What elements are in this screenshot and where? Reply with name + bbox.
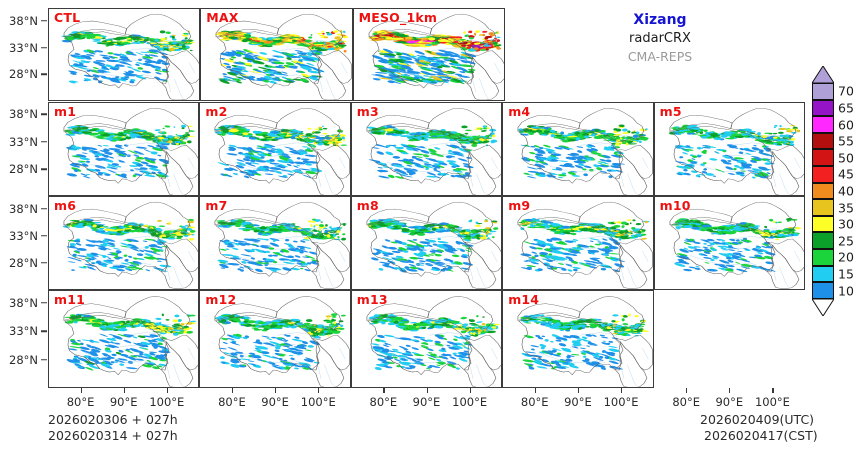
- ytick-mark: [41, 20, 47, 22]
- panel-label-ctl: CTL: [54, 10, 80, 25]
- map-panel-m10[interactable]: m10: [654, 196, 805, 290]
- ytick-mark: [41, 331, 47, 333]
- colorbar-tick-label: 15: [838, 266, 854, 281]
- ytick-label: 38°N: [0, 107, 38, 121]
- map-panel-m2[interactable]: m2: [199, 102, 350, 197]
- panel-label-m6: m6: [54, 198, 76, 213]
- ytick-mark: [41, 74, 47, 76]
- map-panel-max[interactable]: MAX: [200, 8, 352, 101]
- colorbar-band: [812, 133, 834, 150]
- footer-right-line2: 2026020417(CST): [704, 428, 818, 443]
- colorbar: 70656055504540353025201510: [812, 66, 860, 356]
- panel-label-max: MAX: [206, 10, 238, 25]
- colorbar-band: [812, 232, 834, 249]
- xtick-label: 90°E: [413, 395, 441, 409]
- ytick-label: 33°N: [0, 135, 38, 149]
- ytick-mark: [41, 208, 47, 210]
- colorbar-tick-label: 35: [838, 200, 854, 215]
- ytick-mark: [41, 114, 47, 116]
- xtick-mark: [167, 388, 168, 393]
- colorbar-tick-label: 60: [838, 117, 854, 132]
- colorbar-band: [812, 199, 834, 216]
- map-panel-ctl[interactable]: CTL: [48, 8, 200, 101]
- colorbar-tick-label: 55: [838, 134, 854, 149]
- header-subtitle-variable: radarCRX: [560, 31, 760, 46]
- xtick-label: 80°E: [370, 395, 398, 409]
- xtick-mark: [578, 388, 579, 393]
- colorbar-over-cap: [812, 66, 834, 83]
- map-panel-m1[interactable]: m1: [48, 102, 199, 197]
- footer-left-line1: 2026020306 + 027h: [48, 412, 178, 427]
- map-panel-meso-1km[interactable]: MESO_1km: [353, 8, 505, 101]
- colorbar-band: [812, 216, 834, 233]
- ytick-mark: [41, 168, 47, 170]
- xtick-label: 90°E: [110, 395, 138, 409]
- footer-right-line1: 2026020409(UTC): [700, 412, 814, 427]
- ytick-mark: [41, 302, 47, 304]
- map-panel-m4[interactable]: m4: [502, 102, 653, 197]
- colorbar-band: [812, 282, 834, 299]
- map-panel-m3[interactable]: m3: [351, 102, 502, 197]
- map-panel-m6[interactable]: m6: [48, 196, 199, 290]
- xtick-mark: [470, 388, 471, 393]
- colorbar-tick-label: 45: [838, 167, 854, 182]
- xtick-mark: [124, 388, 125, 393]
- panel-label-m7: m7: [205, 198, 227, 213]
- map-panel-m14[interactable]: m14: [502, 290, 653, 389]
- xtick-label: 100°E: [301, 395, 336, 409]
- ytick-mark: [41, 235, 47, 237]
- map-panel-m12[interactable]: m12: [199, 290, 350, 389]
- header-subtitle-model: CMA-REPS: [560, 49, 760, 64]
- panel-label-m3: m3: [357, 104, 379, 119]
- map-panel-m7[interactable]: m7: [199, 196, 350, 290]
- colorbar-band: [812, 100, 834, 117]
- panel-label-m12: m12: [205, 292, 236, 307]
- ytick-mark: [41, 359, 47, 361]
- xtick-mark: [232, 388, 233, 393]
- ytick-label: 38°N: [0, 202, 38, 216]
- xtick-mark: [383, 388, 384, 393]
- ytick-label: 33°N: [0, 41, 38, 55]
- colorbar-band: [812, 166, 834, 183]
- ytick-mark: [41, 262, 47, 264]
- ytick-mark: [41, 47, 47, 49]
- map-panel-m13[interactable]: m13: [351, 290, 502, 389]
- ytick-label: 28°N: [0, 353, 38, 367]
- colorbar-band: [812, 116, 834, 133]
- colorbar-band: [812, 249, 834, 266]
- ytick-label: 33°N: [0, 229, 38, 243]
- colorbar-tick-label: 25: [838, 233, 854, 248]
- map-panel-m8[interactable]: m8: [351, 196, 502, 290]
- xtick-mark: [621, 388, 622, 393]
- colorbar-tick-label: 65: [838, 100, 854, 115]
- footer-left-line2: 2026020314 + 027h: [48, 428, 178, 443]
- colorbar-tick-label: 50: [838, 150, 854, 165]
- panel-label-m8: m8: [357, 198, 379, 213]
- figure-canvas: Xizang radarCRX CMA-REPS CTLMAXMESO_1kmm…: [0, 0, 860, 450]
- colorbar-band: [812, 83, 834, 100]
- colorbar-band: [812, 266, 834, 283]
- xtick-mark: [686, 388, 687, 393]
- xtick-label: 90°E: [564, 395, 592, 409]
- map-panel-m9[interactable]: m9: [502, 196, 653, 290]
- xtick-mark: [729, 388, 730, 393]
- ytick-label: 28°N: [0, 256, 38, 270]
- panel-label-m14: m14: [508, 292, 539, 307]
- colorbar-band: [812, 149, 834, 166]
- panel-label-meso-1km: MESO_1km: [359, 10, 438, 25]
- ytick-label: 28°N: [0, 162, 38, 176]
- ytick-label: 38°N: [0, 14, 38, 28]
- xtick-label: 100°E: [149, 395, 184, 409]
- colorbar-tick-label: 10: [838, 283, 854, 298]
- panel-label-m1: m1: [54, 104, 76, 119]
- panel-label-m4: m4: [508, 104, 530, 119]
- colorbar-tick-label: 30: [838, 217, 854, 232]
- panel-label-m2: m2: [205, 104, 227, 119]
- xtick-mark: [427, 388, 428, 393]
- colorbar-tick-label: 20: [838, 250, 854, 265]
- xtick-label: 100°E: [452, 395, 487, 409]
- panel-label-m10: m10: [660, 198, 691, 213]
- xtick-mark: [772, 388, 773, 393]
- xtick-label: 80°E: [218, 395, 246, 409]
- xtick-label: 80°E: [521, 395, 549, 409]
- panel-label-m11: m11: [54, 292, 85, 307]
- xtick-mark: [275, 388, 276, 393]
- xtick-label: 80°E: [672, 395, 700, 409]
- colorbar-tick-label: 70: [838, 84, 854, 99]
- colorbar-tick-label: 40: [838, 183, 854, 198]
- panel-label-m5: m5: [660, 104, 682, 119]
- ytick-mark: [41, 141, 47, 143]
- ytick-label: 28°N: [0, 67, 38, 81]
- panel-label-m13: m13: [357, 292, 388, 307]
- xtick-mark: [81, 388, 82, 393]
- xtick-label: 80°E: [67, 395, 95, 409]
- map-panel-m11[interactable]: m11: [48, 290, 199, 389]
- xtick-mark: [318, 388, 319, 393]
- xtick-label: 100°E: [604, 395, 639, 409]
- ytick-label: 33°N: [0, 324, 38, 338]
- xtick-mark: [535, 388, 536, 393]
- colorbar-under-cap: [812, 299, 834, 316]
- header-block: Xizang radarCRX CMA-REPS: [560, 12, 760, 64]
- panel-label-m9: m9: [508, 198, 530, 213]
- xtick-label: 100°E: [755, 395, 790, 409]
- xtick-label: 90°E: [715, 395, 743, 409]
- xtick-label: 90°E: [261, 395, 289, 409]
- ytick-label: 38°N: [0, 296, 38, 310]
- header-title: Xizang: [560, 12, 760, 28]
- map-panel-m5[interactable]: m5: [654, 102, 805, 197]
- colorbar-band: [812, 183, 834, 200]
